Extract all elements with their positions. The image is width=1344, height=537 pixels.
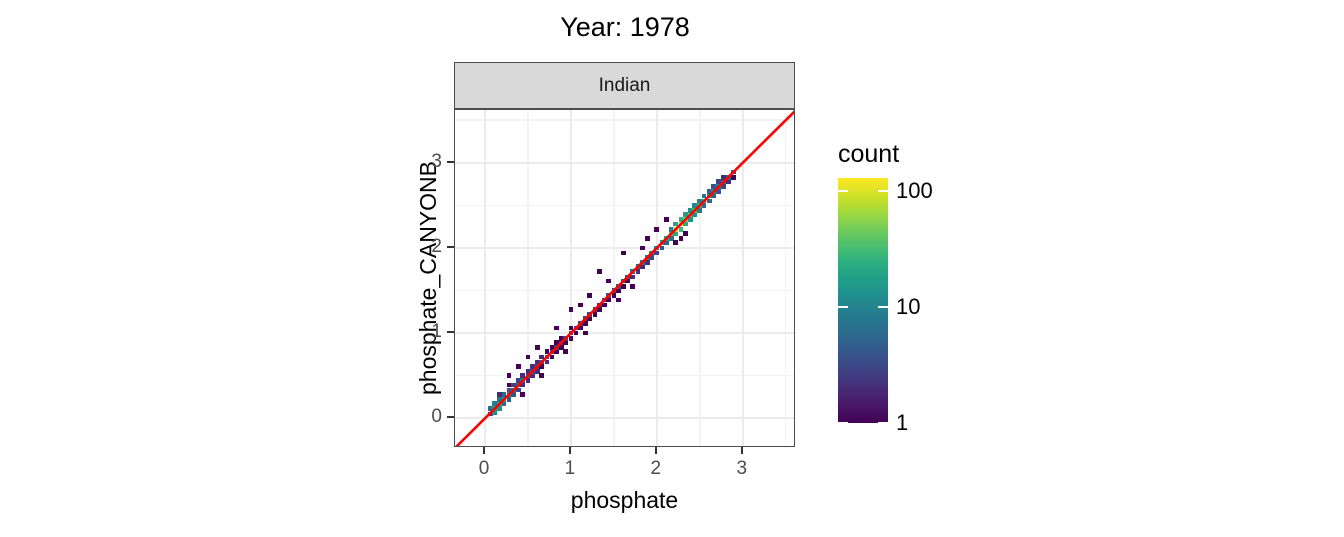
- x-axis-tick: [483, 447, 485, 454]
- plot-figure: Year: 1978 Indian phosphate phosphate_CA…: [0, 0, 1344, 537]
- y-axis-tick: [447, 416, 454, 418]
- colorbar-label: 100: [896, 178, 933, 204]
- x-axis-tick: [741, 447, 743, 454]
- colorbar-tick: [878, 422, 888, 425]
- x-axis-tick: [655, 447, 657, 454]
- y-axis-tick-label: 0: [418, 406, 442, 428]
- x-axis-tick-label: 3: [736, 458, 747, 480]
- y-axis-tick-label: 1: [418, 321, 442, 343]
- colorbar: [838, 178, 888, 423]
- panel-inner: [455, 110, 794, 446]
- page-title: Year: 1978: [454, 10, 796, 44]
- colorbar-label: 10: [896, 294, 920, 320]
- x-axis-tick-label: 0: [479, 458, 490, 480]
- facet-strip-label: Indian: [455, 63, 794, 108]
- y-axis-tick: [447, 246, 454, 248]
- colorbar-label: 1: [896, 410, 908, 436]
- colorbar-tick: [878, 190, 888, 193]
- colorbar-tick: [838, 190, 848, 193]
- colorbar-tick: [878, 306, 888, 309]
- reference-line-abline: [455, 110, 794, 446]
- colorbar-tick: [838, 306, 848, 309]
- plot-panel: [454, 109, 795, 447]
- y-axis-tick-label: 2: [418, 236, 442, 258]
- y-axis-tick: [447, 161, 454, 163]
- x-axis-tick: [569, 447, 571, 454]
- facet-strip: Indian: [454, 62, 795, 109]
- x-axis-label: phosphate: [454, 487, 795, 514]
- legend-title: count: [838, 140, 899, 169]
- x-axis-tick-label: 2: [651, 458, 662, 480]
- y-axis-tick-label: 3: [418, 151, 442, 173]
- colorbar-tick: [838, 422, 848, 425]
- y-axis-tick: [447, 331, 454, 333]
- colorbar-gradient: [838, 178, 888, 423]
- x-axis-tick-label: 1: [565, 458, 576, 480]
